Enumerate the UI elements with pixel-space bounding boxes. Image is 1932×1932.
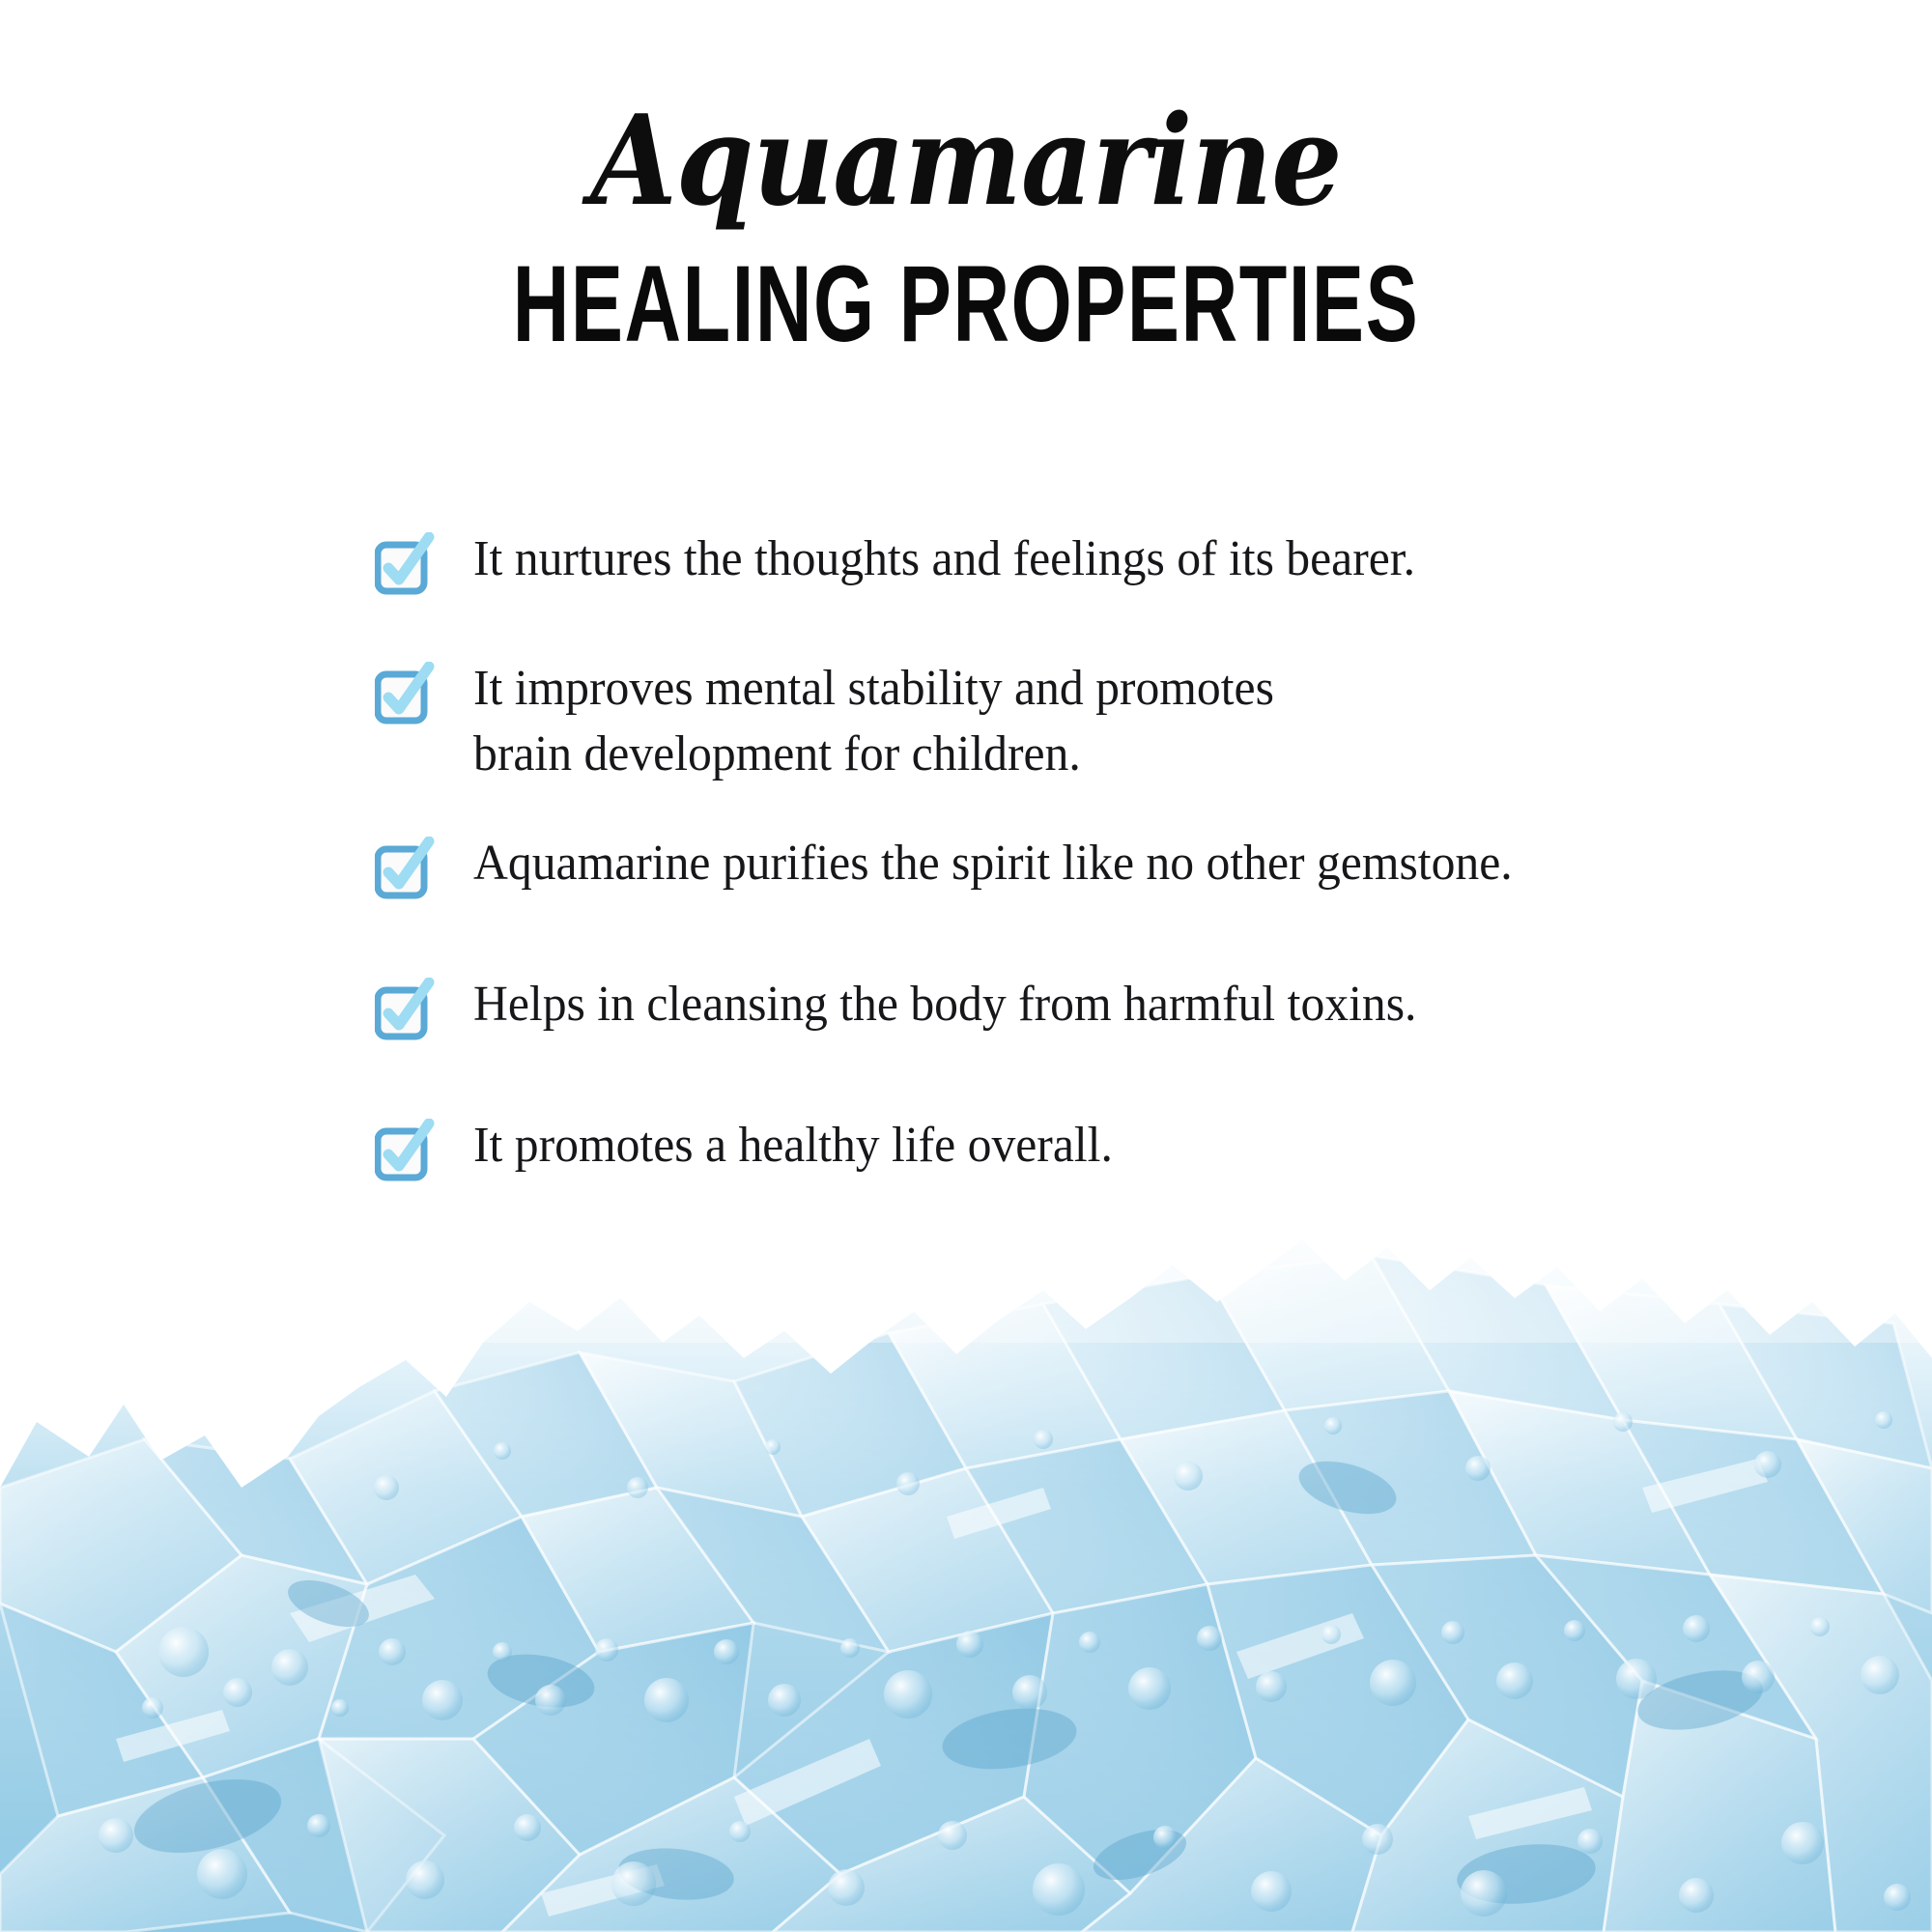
list-item-label: It improves mental stability and promote… — [473, 656, 1274, 786]
healing-properties-list: It nurtures the thoughts and feelings of… — [375, 526, 1650, 1182]
list-item: It improves mental stability and promote… — [375, 656, 1650, 786]
list-item: Helps in cleansing the body from harmful… — [375, 972, 1650, 1041]
list-item-label: Aquamarine purifies the spirit like no o… — [473, 831, 1513, 896]
page-title-script: Aquamarine — [97, 93, 1835, 231]
list-item: Aquamarine purifies the spirit like no o… — [375, 831, 1650, 900]
checked-checkbox-icon — [375, 1119, 435, 1182]
ice-cubes-photo — [0, 1198, 1932, 1932]
list-item-label: It nurtures the thoughts and feelings of… — [473, 526, 1415, 592]
poster-canvas: Aquamarine HEALING PROPERTIES It nurture… — [0, 0, 1932, 1932]
checked-checkbox-icon — [375, 837, 435, 900]
list-item-label: It promotes a healthy life overall. — [473, 1113, 1113, 1179]
page-title-subheading: HEALING PROPERTIES — [213, 250, 1719, 358]
list-item: It promotes a healthy life overall. — [375, 1113, 1650, 1182]
list-item-label: Helps in cleansing the body from harmful… — [473, 972, 1416, 1037]
list-item: It nurtures the thoughts and feelings of… — [375, 526, 1650, 596]
checked-checkbox-icon — [375, 532, 435, 596]
checked-checkbox-icon — [375, 662, 435, 725]
poster-header: Aquamarine HEALING PROPERTIES — [0, 0, 1932, 355]
checked-checkbox-icon — [375, 978, 435, 1041]
